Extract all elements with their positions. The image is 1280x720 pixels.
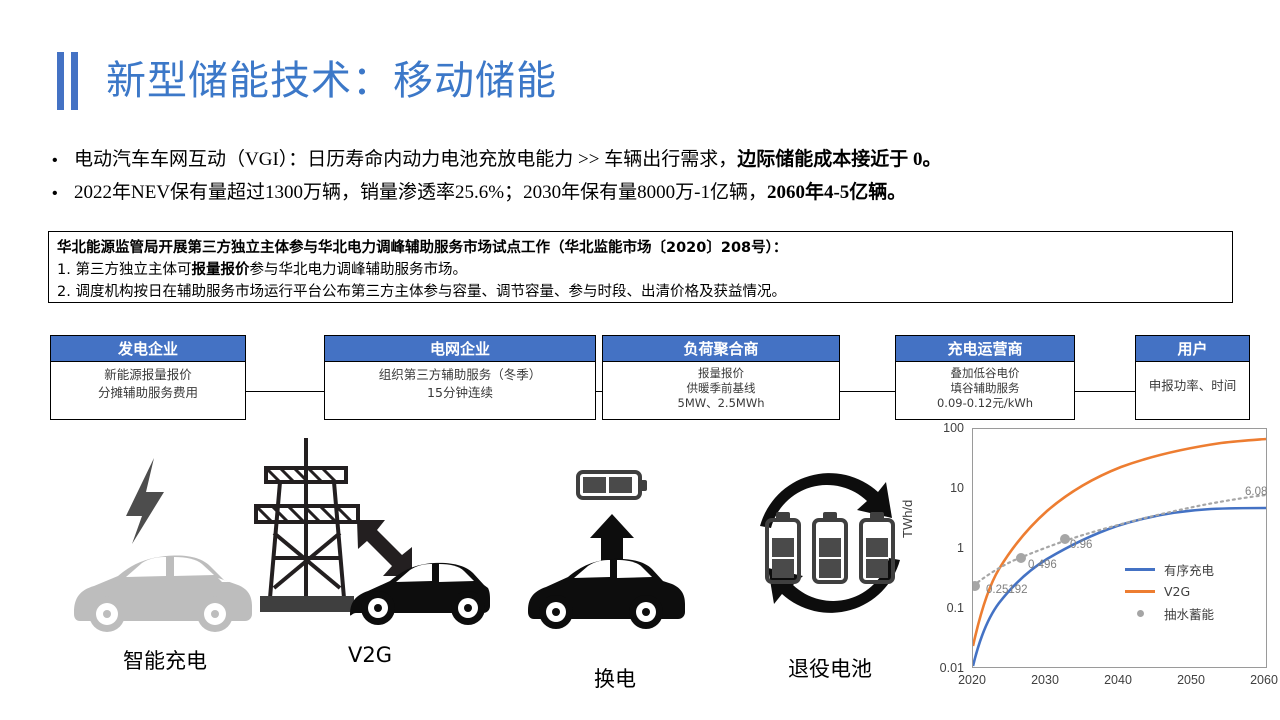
- policy-heading: 华北能源监管局开展第三方独立主体参与华北电力调峰辅助服务市场试点工作（华北监能市…: [57, 237, 1224, 259]
- chart-x-tick: 2040: [1095, 673, 1141, 687]
- chart-plot-area: [972, 428, 1267, 668]
- flow-box-body: 报量报价 供暖季前基线 5MW、2.5MWh: [603, 362, 839, 412]
- flow-box-line: 填谷辅助服务: [900, 381, 1070, 396]
- data-label-pumped-2030: 0.96: [1070, 539, 1092, 551]
- title-accent-bar-2: [71, 52, 78, 110]
- legend-marker-gray: [1125, 610, 1155, 617]
- chart-x-tick: 2050: [1168, 673, 1214, 687]
- data-label-pumped-2020: 0.25192: [986, 584, 1028, 596]
- legend-item-pumped-hydro: 抽水蓄能: [1125, 602, 1214, 624]
- legend-swatch-orange: [1125, 590, 1155, 593]
- chart-y-axis-label: TWh/d: [900, 500, 915, 538]
- lightning-bolt-icon: [126, 458, 164, 544]
- bullet-text: 电动汽车车网互动（VGI）：日历寿命内动力电池充放电能力 >> 车辆出行需求，边…: [74, 148, 941, 172]
- flow-box-title: 负荷聚合商: [603, 336, 839, 362]
- legend-label: V2G: [1164, 584, 1190, 599]
- icon-caption-retired-battery: 退役电池: [745, 653, 915, 683]
- icon-caption-battery-swap: 换电: [535, 663, 695, 693]
- policy-item-2: 2. 调度机构按日在辅助服务市场运行平台公布第三方主体参与容量、调节容量、参与时…: [57, 281, 1224, 303]
- icon-group-v2g: V2G: [250, 438, 490, 643]
- flow-box-title: 用户: [1136, 336, 1249, 362]
- flow-box-generation[interactable]: 发电企业 新能源报量报价 分摊辅助服务费用: [50, 335, 246, 420]
- flow-box-body: 申报功率、时间: [1136, 362, 1249, 395]
- data-point-marker: [1060, 534, 1070, 544]
- retired-battery-icon: [740, 448, 920, 638]
- policy-callout-box: 华北能源监管局开展第三方独立主体参与华北电力调峰辅助服务市场试点工作（华北监能市…: [48, 231, 1233, 303]
- page-title: 新型储能技术：移动储能: [106, 61, 557, 101]
- storage-capacity-chart: TWh/d 100 10 1 0.1 0.01 0.25192 0.496 0.…: [900, 420, 1280, 720]
- technology-icon-row: 智能充电: [0, 430, 910, 720]
- flow-box-title: 电网企业: [325, 336, 595, 362]
- flow-box-line: 5MW、2.5MWh: [607, 396, 835, 411]
- slide-title: 新型储能技术：移动储能: [57, 52, 557, 110]
- flow-box-line: 报量报价: [607, 366, 835, 381]
- chart-y-tick: 10: [930, 481, 964, 495]
- flow-box-body: 组织第三方辅助服务（冬季） 15分钟连续: [325, 362, 595, 402]
- data-label-pumped-2025: 0.496: [1028, 559, 1057, 571]
- flow-connector: [840, 391, 900, 392]
- legend-label: 有序充电: [1164, 560, 1214, 579]
- flow-box-line: 0.09-0.12元/kWh: [900, 396, 1070, 411]
- chart-x-tick: 2030: [1022, 673, 1068, 687]
- bullet-list: • 电动汽车车网互动（VGI）：日历寿命内动力电池充放电能力 >> 车辆出行需求…: [52, 148, 1252, 214]
- flow-box-line: 新能源报量报价: [55, 366, 241, 384]
- battery-swap-icon: [510, 458, 725, 638]
- bullet-text: 2022年NEV保有量超过1300万辆，销量渗透率25.6%；2030年保有量8…: [74, 181, 906, 205]
- flow-box-aggregator[interactable]: 负荷聚合商 报量报价 供暖季前基线 5MW、2.5MWh: [602, 335, 840, 420]
- flow-box-grid[interactable]: 电网企业 组织第三方辅助服务（冬季） 15分钟连续: [324, 335, 596, 420]
- policy-item-1: 1. 第三方独立主体可报量报价参与华北电力调峰辅助服务市场。: [57, 259, 1224, 281]
- transmission-tower-icon: [256, 438, 358, 598]
- flow-box-line: 申报功率、时间: [1140, 377, 1245, 395]
- flow-box-title: 发电企业: [51, 336, 245, 362]
- flow-connector: [1075, 391, 1135, 392]
- flow-box-line: 组织第三方辅助服务（冬季）: [329, 366, 591, 384]
- chart-y-tick: 0.1: [930, 601, 964, 615]
- chart-y-tick: 100: [930, 421, 964, 435]
- flow-box-line: 供暖季前基线: [607, 381, 835, 396]
- chart-legend: 有序充电 V2G 抽水蓄能: [1125, 558, 1214, 624]
- stakeholder-flow-diagram: 发电企业 新能源报量报价 分摊辅助服务费用 电网企业 组织第三方辅助服务（冬季）…: [50, 335, 1250, 420]
- chart-x-tick: 2060: [1241, 673, 1280, 687]
- series-line-v2g: [973, 439, 1266, 646]
- tower-base: [260, 596, 354, 612]
- bullet-dot-icon: •: [52, 151, 74, 170]
- flow-connector: [245, 391, 325, 392]
- icon-caption-v2g: V2G: [290, 643, 450, 667]
- legend-item-ordered-charging: 有序充电: [1125, 558, 1214, 580]
- flow-box-title: 充电运营商: [896, 336, 1074, 362]
- battery-horizontal-icon: [578, 472, 647, 498]
- bidirectional-arrow-icon: [357, 520, 412, 576]
- data-label-pumped-2060: 6.08: [1245, 486, 1267, 498]
- legend-label: 抽水蓄能: [1164, 604, 1214, 623]
- title-accent-bar-1: [57, 52, 64, 110]
- list-item: • 2022年NEV保有量超过1300万辆，销量渗透率25.6%；2030年保有…: [52, 181, 1252, 205]
- icon-group-battery-swap: 换电: [510, 458, 725, 643]
- flow-box-user[interactable]: 用户 申报功率、时间: [1135, 335, 1250, 420]
- chart-y-tick: 1: [930, 541, 964, 555]
- list-item: • 电动汽车车网互动（VGI）：日历寿命内动力电池充放电能力 >> 车辆出行需求…: [52, 148, 1252, 172]
- flow-box-line: 叠加低谷电价: [900, 366, 1070, 381]
- legend-swatch-blue: [1125, 568, 1155, 571]
- flow-box-line: 15分钟连续: [329, 384, 591, 402]
- v2g-icon: [250, 438, 490, 638]
- legend-item-v2g: V2G: [1125, 580, 1214, 602]
- icon-caption-smart-charging: 智能充电: [80, 645, 250, 675]
- bullet-dot-icon: •: [52, 184, 74, 203]
- flow-box-line: 分摊辅助服务费用: [55, 384, 241, 402]
- icon-group-retired-battery: 退役电池: [740, 448, 920, 643]
- flow-box-body: 新能源报量报价 分摊辅助服务费用: [51, 362, 245, 402]
- flow-box-charging-operator[interactable]: 充电运营商 叠加低谷电价 填谷辅助服务 0.09-0.12元/kWh: [895, 335, 1075, 420]
- slide: 新型储能技术：移动储能 • 电动汽车车网互动（VGI）：日历寿命内动力电池充放电…: [0, 0, 1280, 720]
- chart-x-tick: 2020: [949, 673, 995, 687]
- flow-box-body: 叠加低谷电价 填谷辅助服务 0.09-0.12元/kWh: [896, 362, 1074, 412]
- battery-vertical-2: [814, 512, 846, 582]
- data-point-marker: [1016, 553, 1026, 563]
